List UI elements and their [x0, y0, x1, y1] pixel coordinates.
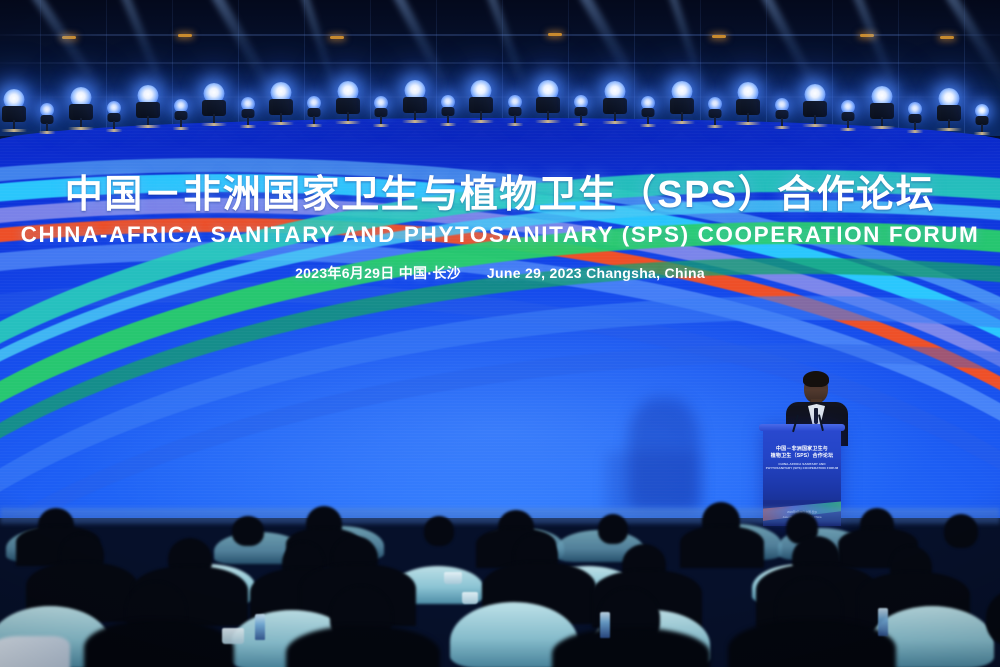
tea-cup [444, 572, 462, 584]
water-bottle [878, 608, 888, 636]
audience-shoulders [680, 526, 764, 568]
audience-torso [552, 628, 710, 667]
forum-date-english: June 29, 2023 Changsha, China [487, 265, 705, 281]
light-fixture-base [106, 129, 123, 132]
forum-date-chinese: 2023年6月29日 中国·长沙 [295, 265, 461, 281]
light-fixture-base [201, 123, 227, 126]
tea-cup [462, 592, 478, 604]
light-fixture-base [39, 131, 56, 134]
light-fixture-base [439, 123, 456, 126]
forum-title-chinese: 中国－非洲国家卫生与植物卫生（SPS）合作论坛 [0, 172, 1000, 218]
podium-top-edge [759, 424, 845, 431]
audience-torso [728, 620, 896, 667]
light-fixture-base [135, 125, 161, 128]
light-fixture-base [335, 121, 361, 124]
screen-title-block: 中国－非洲国家卫生与植物卫生（SPS）合作论坛 CHINA-AFRICA SAN… [0, 172, 1000, 282]
light-fixture-base [706, 125, 723, 128]
light-fixture-base [268, 122, 294, 125]
light-fixture-base [239, 125, 256, 128]
light-fixture-base [669, 121, 695, 124]
forum-title-english: CHINA-AFRICA SANITARY AND PHYTOSANITARY … [0, 221, 1000, 249]
audience-area [0, 470, 1000, 667]
light-fixture-base [402, 120, 428, 123]
podium-title-cn-line2: 植物卫生（SPS）合作论坛 [763, 453, 841, 459]
light-fixture-base [735, 122, 761, 125]
light-fixture-base [802, 124, 828, 127]
light-fixture-base [506, 123, 523, 126]
audience-head [944, 514, 978, 548]
light-fixture-base [306, 124, 323, 127]
audience-head [424, 516, 454, 546]
par-light [962, 99, 1000, 145]
light-fixture-base [468, 120, 494, 123]
light-fixture-base [373, 124, 390, 127]
spotlight-beam [31, 0, 106, 96]
podium-title-cn-line1: 中国－非洲国家卫生与 [763, 446, 841, 452]
audience-torso [286, 626, 440, 667]
water-bottle [600, 612, 610, 638]
light-fixture-base [640, 124, 657, 127]
water-bottle [255, 614, 265, 640]
conference-hall-photo: 中国－非洲国家卫生与植物卫生（SPS）合作论坛 CHINA-AFRICA SAN… [0, 0, 1000, 667]
tea-cup [222, 628, 244, 644]
light-fixture-base [573, 123, 590, 126]
light-fixture-base [535, 120, 561, 123]
speaker-hair [803, 371, 829, 387]
audience-light-shirt [0, 636, 70, 667]
light-fixture-base [172, 127, 189, 130]
audience-head [598, 514, 628, 544]
light-fixture-base [869, 126, 895, 129]
light-fixture-base [773, 126, 790, 129]
spotlight-beam [945, 0, 1000, 99]
forum-date-line: 2023年6月29日 中国·长沙June 29, 2023 Changsha, … [0, 264, 1000, 282]
light-fixture-base [840, 128, 857, 131]
audience-torso [84, 620, 234, 667]
light-fixture-base [68, 127, 94, 130]
light-fixture-base [602, 121, 628, 124]
audience-head [232, 516, 264, 546]
light-fixture-base [1, 129, 27, 132]
light-fixture-base [907, 130, 924, 133]
light-fixture-base [936, 128, 962, 131]
light-fixture-base [974, 132, 991, 135]
